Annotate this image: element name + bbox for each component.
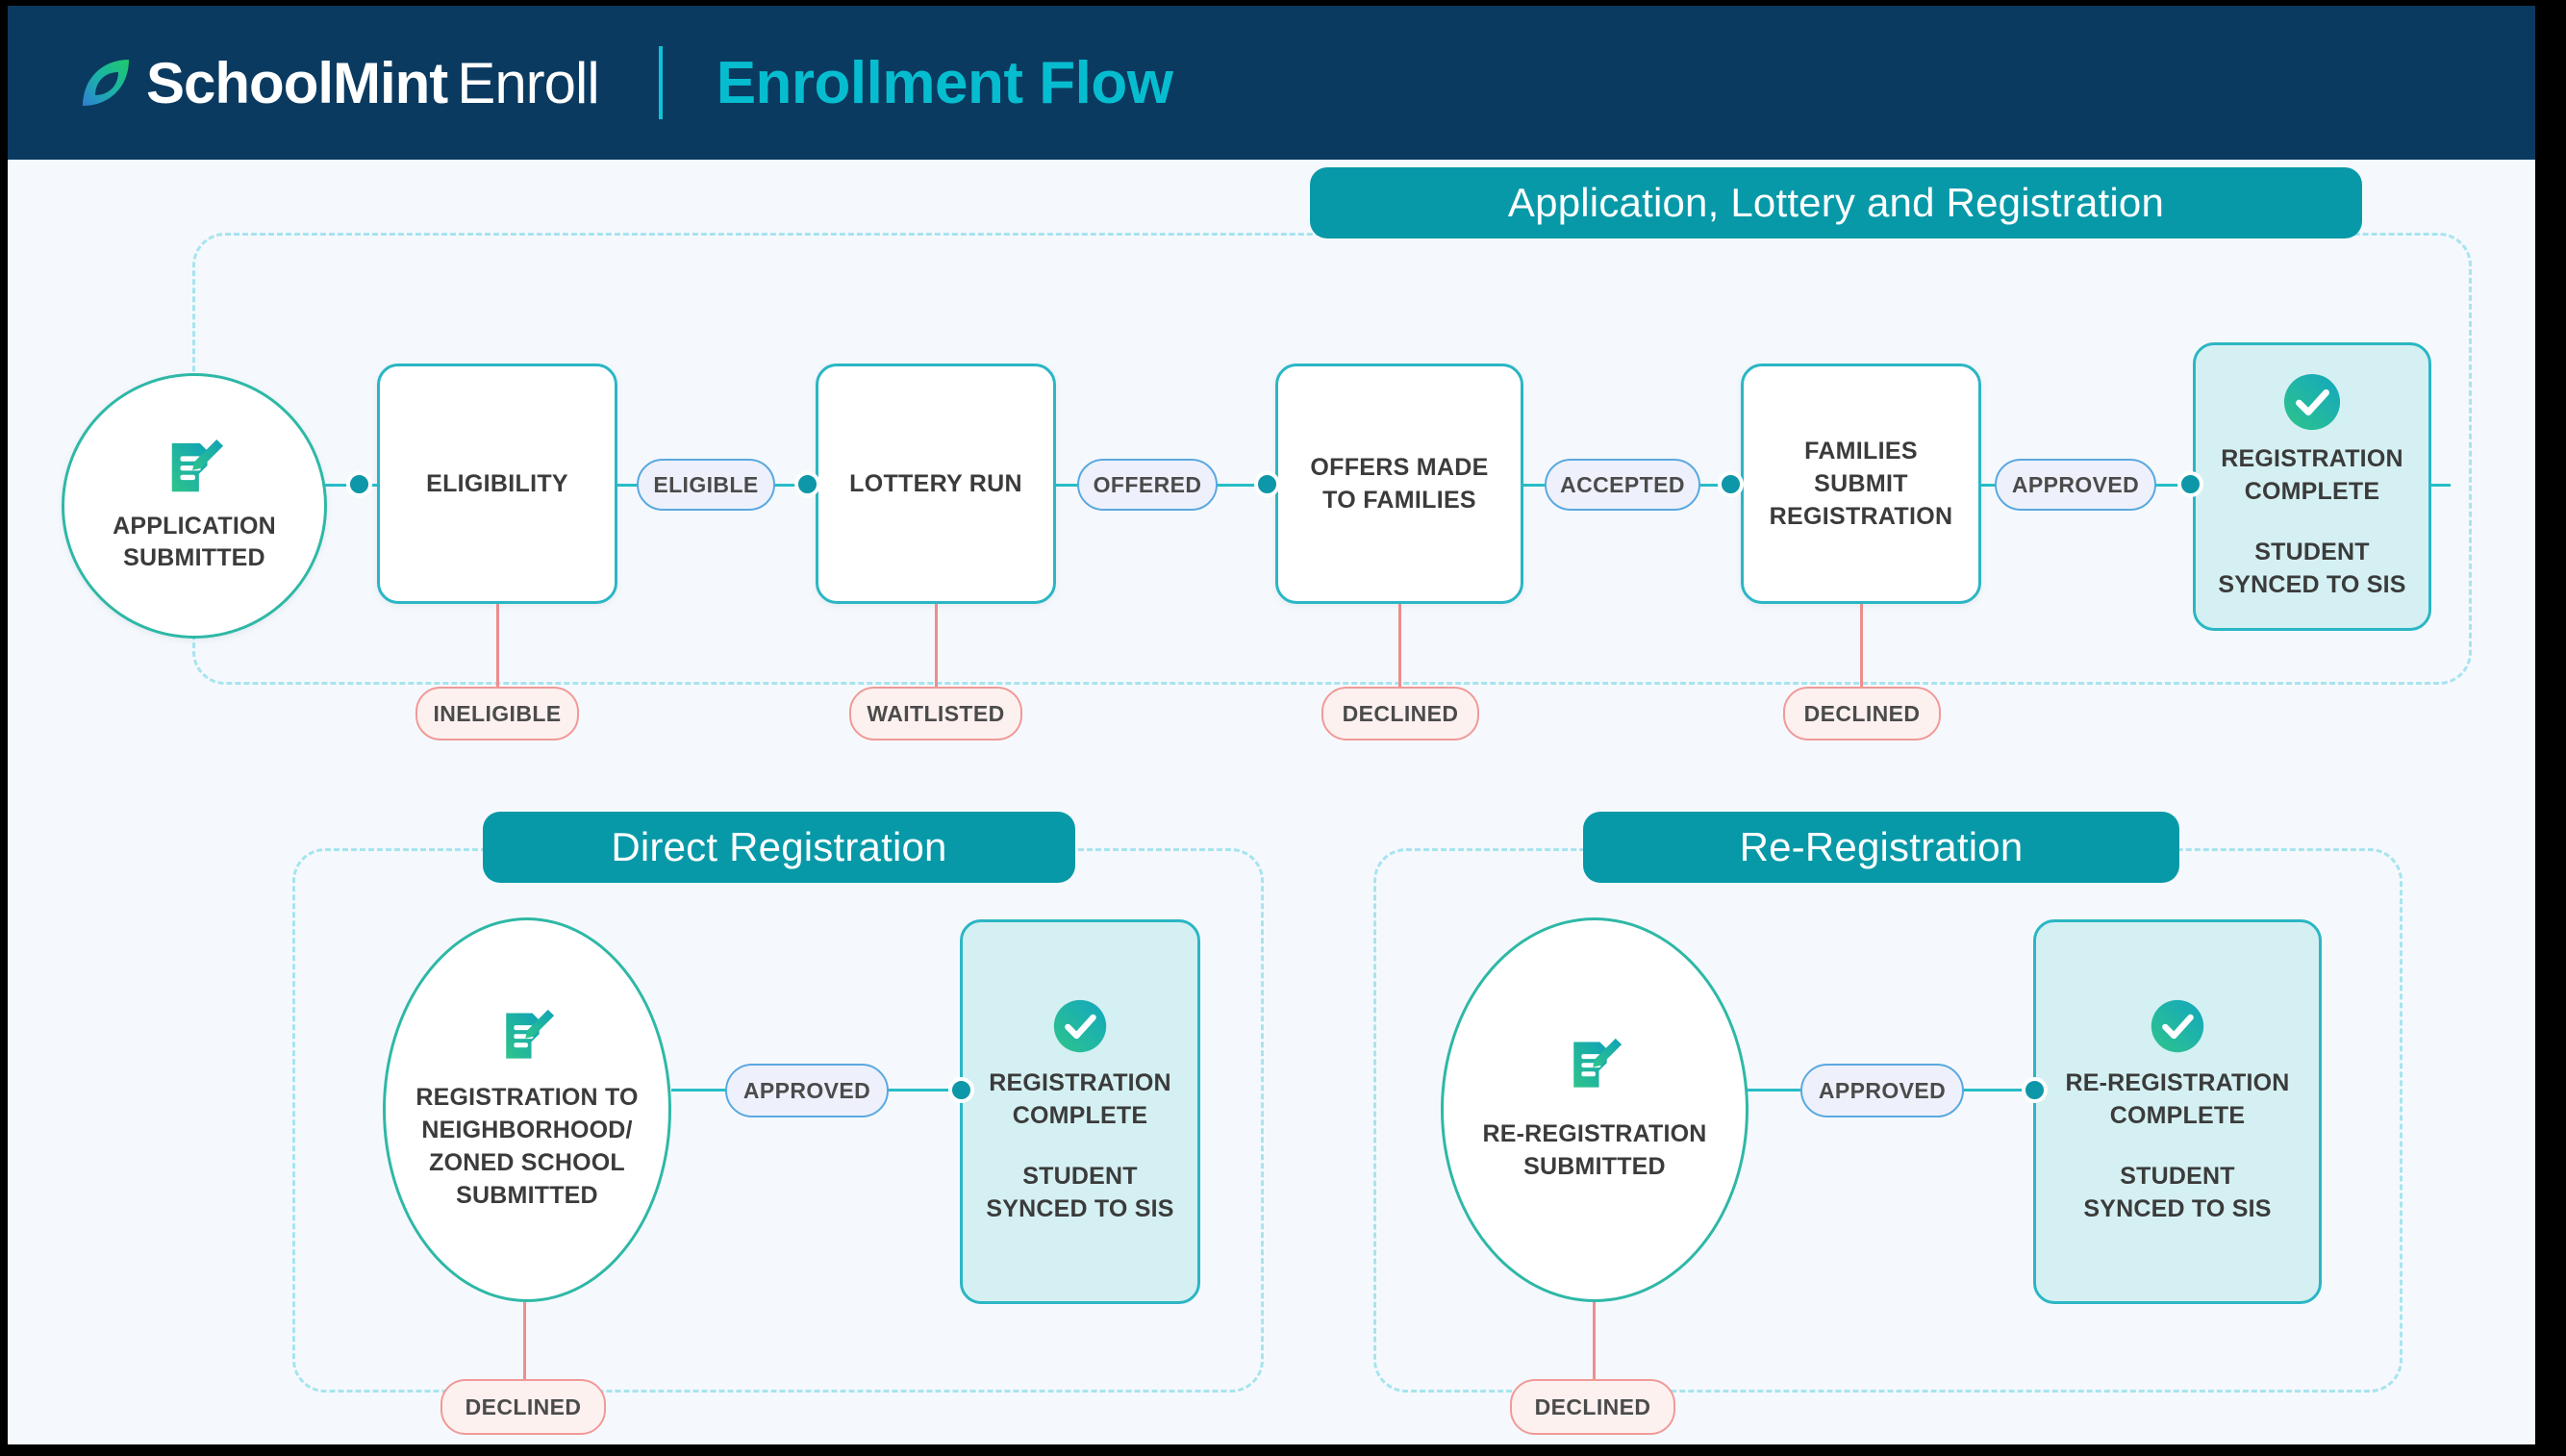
lottery-run-label: LOTTERY RUN — [840, 467, 1032, 500]
label-line-1: STUDENT — [2120, 1163, 2234, 1190]
reject-line — [1860, 604, 1863, 687]
label-line-2: COMPLETE — [1013, 1102, 1148, 1129]
re-registration-submitted-label: RE-REGISTRATION SUBMITTED — [1469, 1117, 1720, 1183]
direct-registration-complete-sub: STUDENT SYNCED TO SIS — [986, 1161, 1173, 1225]
status-eligible-label: ELIGIBLE — [653, 472, 758, 498]
document-pencil-icon — [1567, 1037, 1623, 1092]
connector-dot — [2022, 1077, 2048, 1103]
connector-dot — [948, 1077, 974, 1103]
status-ineligible[interactable]: INELIGIBLE — [415, 687, 579, 741]
status-waitlisted[interactable]: WAITLISTED — [849, 687, 1022, 741]
status-declined[interactable]: DECLINED — [1321, 687, 1479, 741]
main-flow-title: Application, Lottery and Registration — [1310, 167, 2362, 238]
direct-registration-submitted-label: REGISTRATION TO NEIGHBORHOOD/ ZONED SCHO… — [402, 1081, 651, 1212]
re-registration-submitted-node[interactable]: RE-REGISTRATION SUBMITTED — [1441, 917, 1748, 1302]
label-line-1: RE-REGISTRATION — [2065, 1069, 2289, 1096]
status-approved[interactable]: APPROVED — [725, 1064, 889, 1117]
label-line-2: SUBMITTED — [123, 544, 265, 571]
label-line-2: NEIGHBORHOOD/ — [421, 1117, 632, 1143]
label-line-2: TO FAMILIES — [1322, 487, 1476, 514]
document-pencil-icon — [164, 438, 224, 497]
status-approved-label: APPROVED — [1819, 1078, 1946, 1104]
direct-registration-title: Direct Registration — [483, 812, 1075, 883]
app-header: SchoolMint Enroll Enrollment Flow — [8, 6, 2535, 160]
registration-complete-box[interactable]: REGISTRATION COMPLETE STUDENT SYNCED TO … — [2193, 342, 2431, 631]
check-circle-icon — [1052, 998, 1108, 1054]
direct-registration-complete-title: REGISTRATION COMPLETE — [989, 1067, 1170, 1132]
application-submitted-label: APPLICATION SUBMITTED — [97, 511, 291, 575]
page-title: Enrollment Flow — [717, 49, 1173, 117]
document-pencil-icon — [499, 1008, 555, 1064]
connector-dot — [794, 471, 820, 497]
status-eligible[interactable]: ELIGIBLE — [637, 459, 775, 511]
status-declined-label: DECLINED — [1535, 1394, 1651, 1420]
status-offered-label: OFFERED — [1094, 472, 1202, 498]
check-circle-icon — [2150, 998, 2205, 1054]
reject-line — [1593, 1302, 1596, 1379]
lottery-run-box[interactable]: LOTTERY RUN — [816, 364, 1056, 604]
status-ineligible-label: INELIGIBLE — [433, 701, 561, 727]
brand-logo-text: SchoolMint Enroll — [146, 50, 599, 116]
re-registration-complete-sub: STUDENT SYNCED TO SIS — [2083, 1161, 2271, 1225]
connector-dot — [1254, 471, 1280, 497]
connector-dot — [1718, 471, 1744, 497]
offers-made-label: OFFERS MADE TO FAMILIES — [1300, 451, 1497, 516]
diagram-frame: SchoolMint Enroll Enrollment Flow — [8, 6, 2535, 1444]
re-registration-title: Re-Registration — [1583, 812, 2179, 883]
status-declined[interactable]: DECLINED — [1783, 687, 1941, 741]
label-line-3: ZONED SCHOOL — [429, 1149, 625, 1176]
label-line-2: SUBMIT — [1814, 470, 1908, 497]
families-submit-registration-label: FAMILIES SUBMIT REGISTRATION — [1760, 435, 1963, 533]
flow-canvas: Application, Lottery and Registration AP… — [8, 160, 2535, 1444]
header-separator — [659, 46, 663, 119]
re-registration-complete-title: RE-REGISTRATION COMPLETE — [2065, 1067, 2289, 1132]
label-line-1: STUDENT — [2254, 539, 2369, 565]
status-offered[interactable]: OFFERED — [1077, 459, 1218, 511]
label-line-4: SUBMITTED — [456, 1182, 598, 1209]
status-declined-label: DECLINED — [1343, 701, 1459, 727]
status-declined[interactable]: DECLINED — [1510, 1379, 1675, 1435]
label-line-1: REGISTRATION TO — [415, 1084, 638, 1111]
connector-dot — [2177, 471, 2203, 497]
registration-complete-sub: STUDENT SYNCED TO SIS — [2218, 537, 2405, 601]
status-approved-label: APPROVED — [743, 1078, 870, 1104]
registration-complete-title: REGISTRATION COMPLETE — [2221, 443, 2402, 508]
re-registration-title-text: Re-Registration — [1740, 824, 2024, 870]
status-accepted-label: ACCEPTED — [1560, 472, 1685, 498]
eligibility-label: ELIGIBILITY — [416, 467, 578, 500]
main-flow-title-text: Application, Lottery and Registration — [1508, 180, 2164, 226]
status-approved-label: APPROVED — [2012, 472, 2139, 498]
label-line-2: SUBMITTED — [1523, 1153, 1666, 1180]
application-submitted-node[interactable]: APPLICATION SUBMITTED — [62, 373, 327, 639]
brand-name-light: Enroll — [457, 50, 598, 116]
status-declined[interactable]: DECLINED — [440, 1379, 606, 1435]
label-line-1: FAMILIES — [1804, 438, 1918, 464]
status-declined-label: DECLINED — [1804, 701, 1921, 727]
connector-dot — [346, 471, 372, 497]
label-line-1: APPLICATION — [113, 513, 276, 540]
brand-name-bold: SchoolMint — [146, 50, 447, 116]
status-accepted[interactable]: ACCEPTED — [1545, 459, 1700, 511]
reject-line — [935, 604, 938, 687]
label-line-1: REGISTRATION — [2221, 445, 2402, 472]
label-line-1: RE-REGISTRATION — [1482, 1120, 1706, 1147]
eligibility-box[interactable]: ELIGIBILITY — [377, 364, 617, 604]
status-approved[interactable]: APPROVED — [1995, 459, 2156, 511]
label-line-2: SYNCED TO SIS — [2083, 1195, 2271, 1222]
offers-made-box[interactable]: OFFERS MADE TO FAMILIES — [1275, 364, 1523, 604]
reject-line — [496, 604, 499, 687]
schoolmint-leaf-icon — [79, 56, 133, 110]
status-declined-label: DECLINED — [465, 1394, 582, 1420]
direct-registration-submitted-node[interactable]: REGISTRATION TO NEIGHBORHOOD/ ZONED SCHO… — [383, 917, 671, 1302]
reject-line — [523, 1302, 526, 1379]
status-approved[interactable]: APPROVED — [1800, 1064, 1964, 1117]
check-circle-icon — [2282, 372, 2342, 432]
re-registration-complete-box[interactable]: RE-REGISTRATION COMPLETE STUDENT SYNCED … — [2033, 919, 2322, 1304]
label-line-2: SYNCED TO SIS — [2218, 571, 2405, 598]
direct-registration-complete-box[interactable]: REGISTRATION COMPLETE STUDENT SYNCED TO … — [960, 919, 1200, 1304]
label-line-1: STUDENT — [1022, 1163, 1137, 1190]
label-line-3: REGISTRATION — [1770, 503, 1953, 530]
label-line-1: REGISTRATION — [989, 1069, 1170, 1096]
label-line-2: COMPLETE — [2110, 1102, 2246, 1129]
direct-registration-title-text: Direct Registration — [611, 824, 946, 870]
label-line-1: OFFERS MADE — [1310, 454, 1488, 481]
label-line-2: SYNCED TO SIS — [986, 1195, 1173, 1222]
label-line-2: COMPLETE — [2245, 478, 2380, 505]
status-waitlisted-label: WAITLISTED — [867, 701, 1004, 727]
families-submit-registration-box[interactable]: FAMILIES SUBMIT REGISTRATION — [1741, 364, 1981, 604]
reject-line — [1398, 604, 1401, 687]
